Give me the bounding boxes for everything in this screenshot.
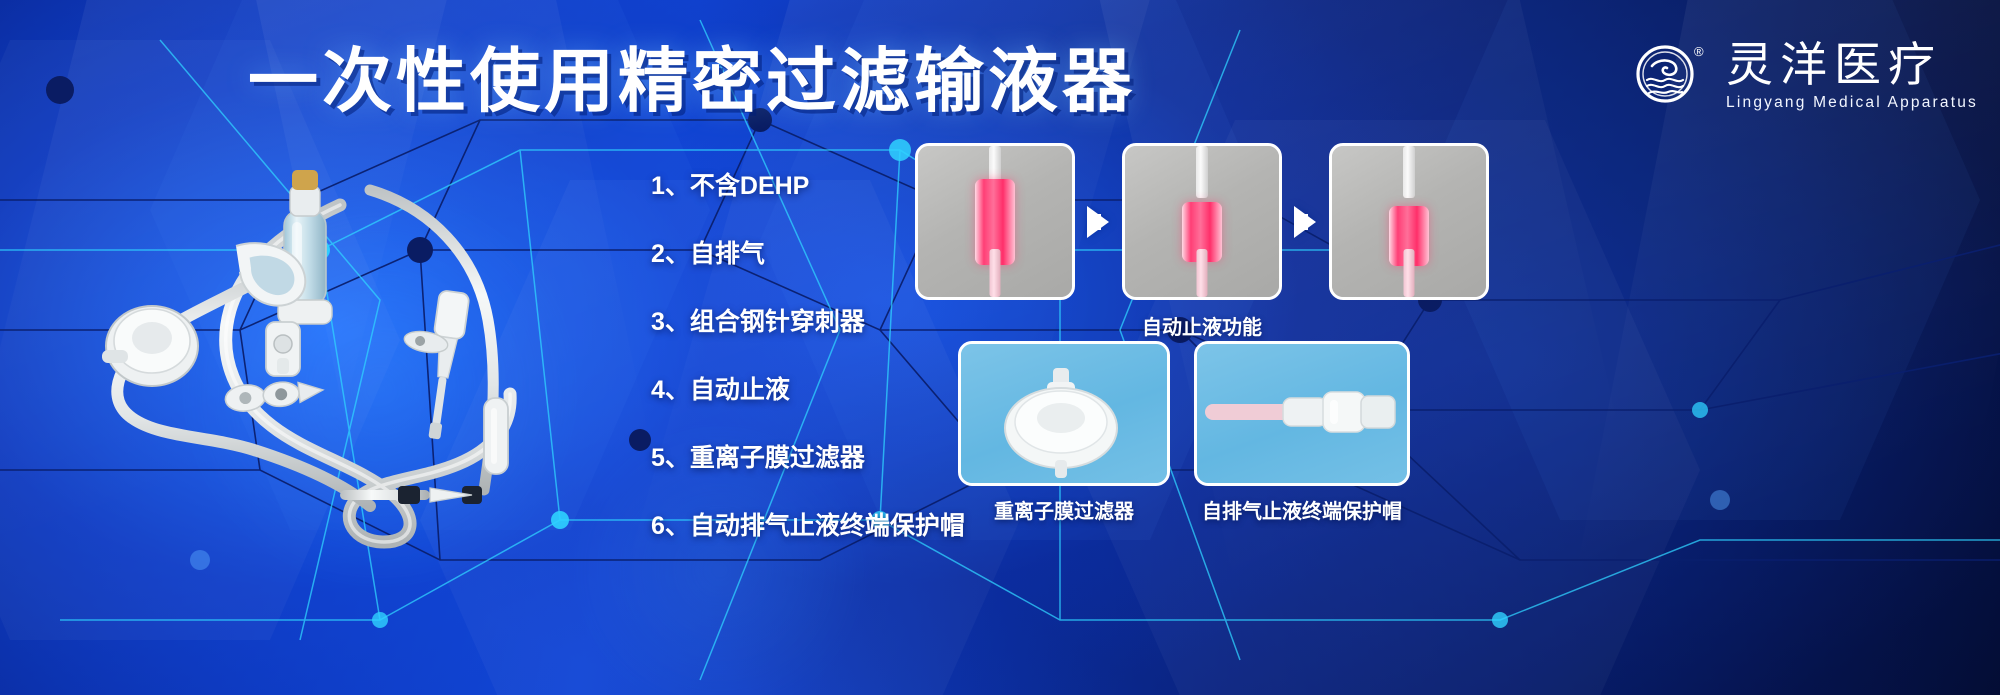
brand-lockup: ® 灵洋医疗 Lingyang Medical Apparatus	[1632, 40, 1978, 112]
detail-caption-filter: 重离子膜过滤器	[958, 495, 1170, 524]
product-photo	[40, 150, 680, 550]
sequence-caption: 自动止液功能	[915, 311, 1489, 340]
list-item: 4、自动止液	[651, 378, 981, 403]
brand-name-en: Lingyang Medical Apparatus	[1726, 94, 1978, 112]
list-item: 6、自动排气止液终端保护帽	[651, 514, 981, 539]
sequence-frame-3	[1329, 143, 1489, 300]
list-item: 5、重离子膜过滤器	[651, 446, 981, 471]
brand-name-cn: 灵洋医疗	[1726, 40, 1978, 89]
product-banner: 一次性使用精密过滤输液器 ® 灵洋医疗 Lingyang Medical App…	[0, 0, 2000, 695]
detail-panel-cap	[1194, 341, 1410, 486]
right-arrow-icon	[1087, 206, 1109, 238]
detail-panel-filter	[958, 341, 1170, 486]
page-title: 一次性使用精密过滤输液器	[248, 46, 1136, 116]
lingyang-seal-logo-icon: ®	[1632, 40, 1704, 112]
sequence-frame-2	[1122, 143, 1282, 300]
sequence-frame-1	[915, 143, 1075, 300]
detail-caption-cap: 自排气止液终端保护帽	[1176, 495, 1428, 524]
right-arrow-icon	[1294, 206, 1316, 238]
registered-mark: ®	[1694, 44, 1704, 59]
